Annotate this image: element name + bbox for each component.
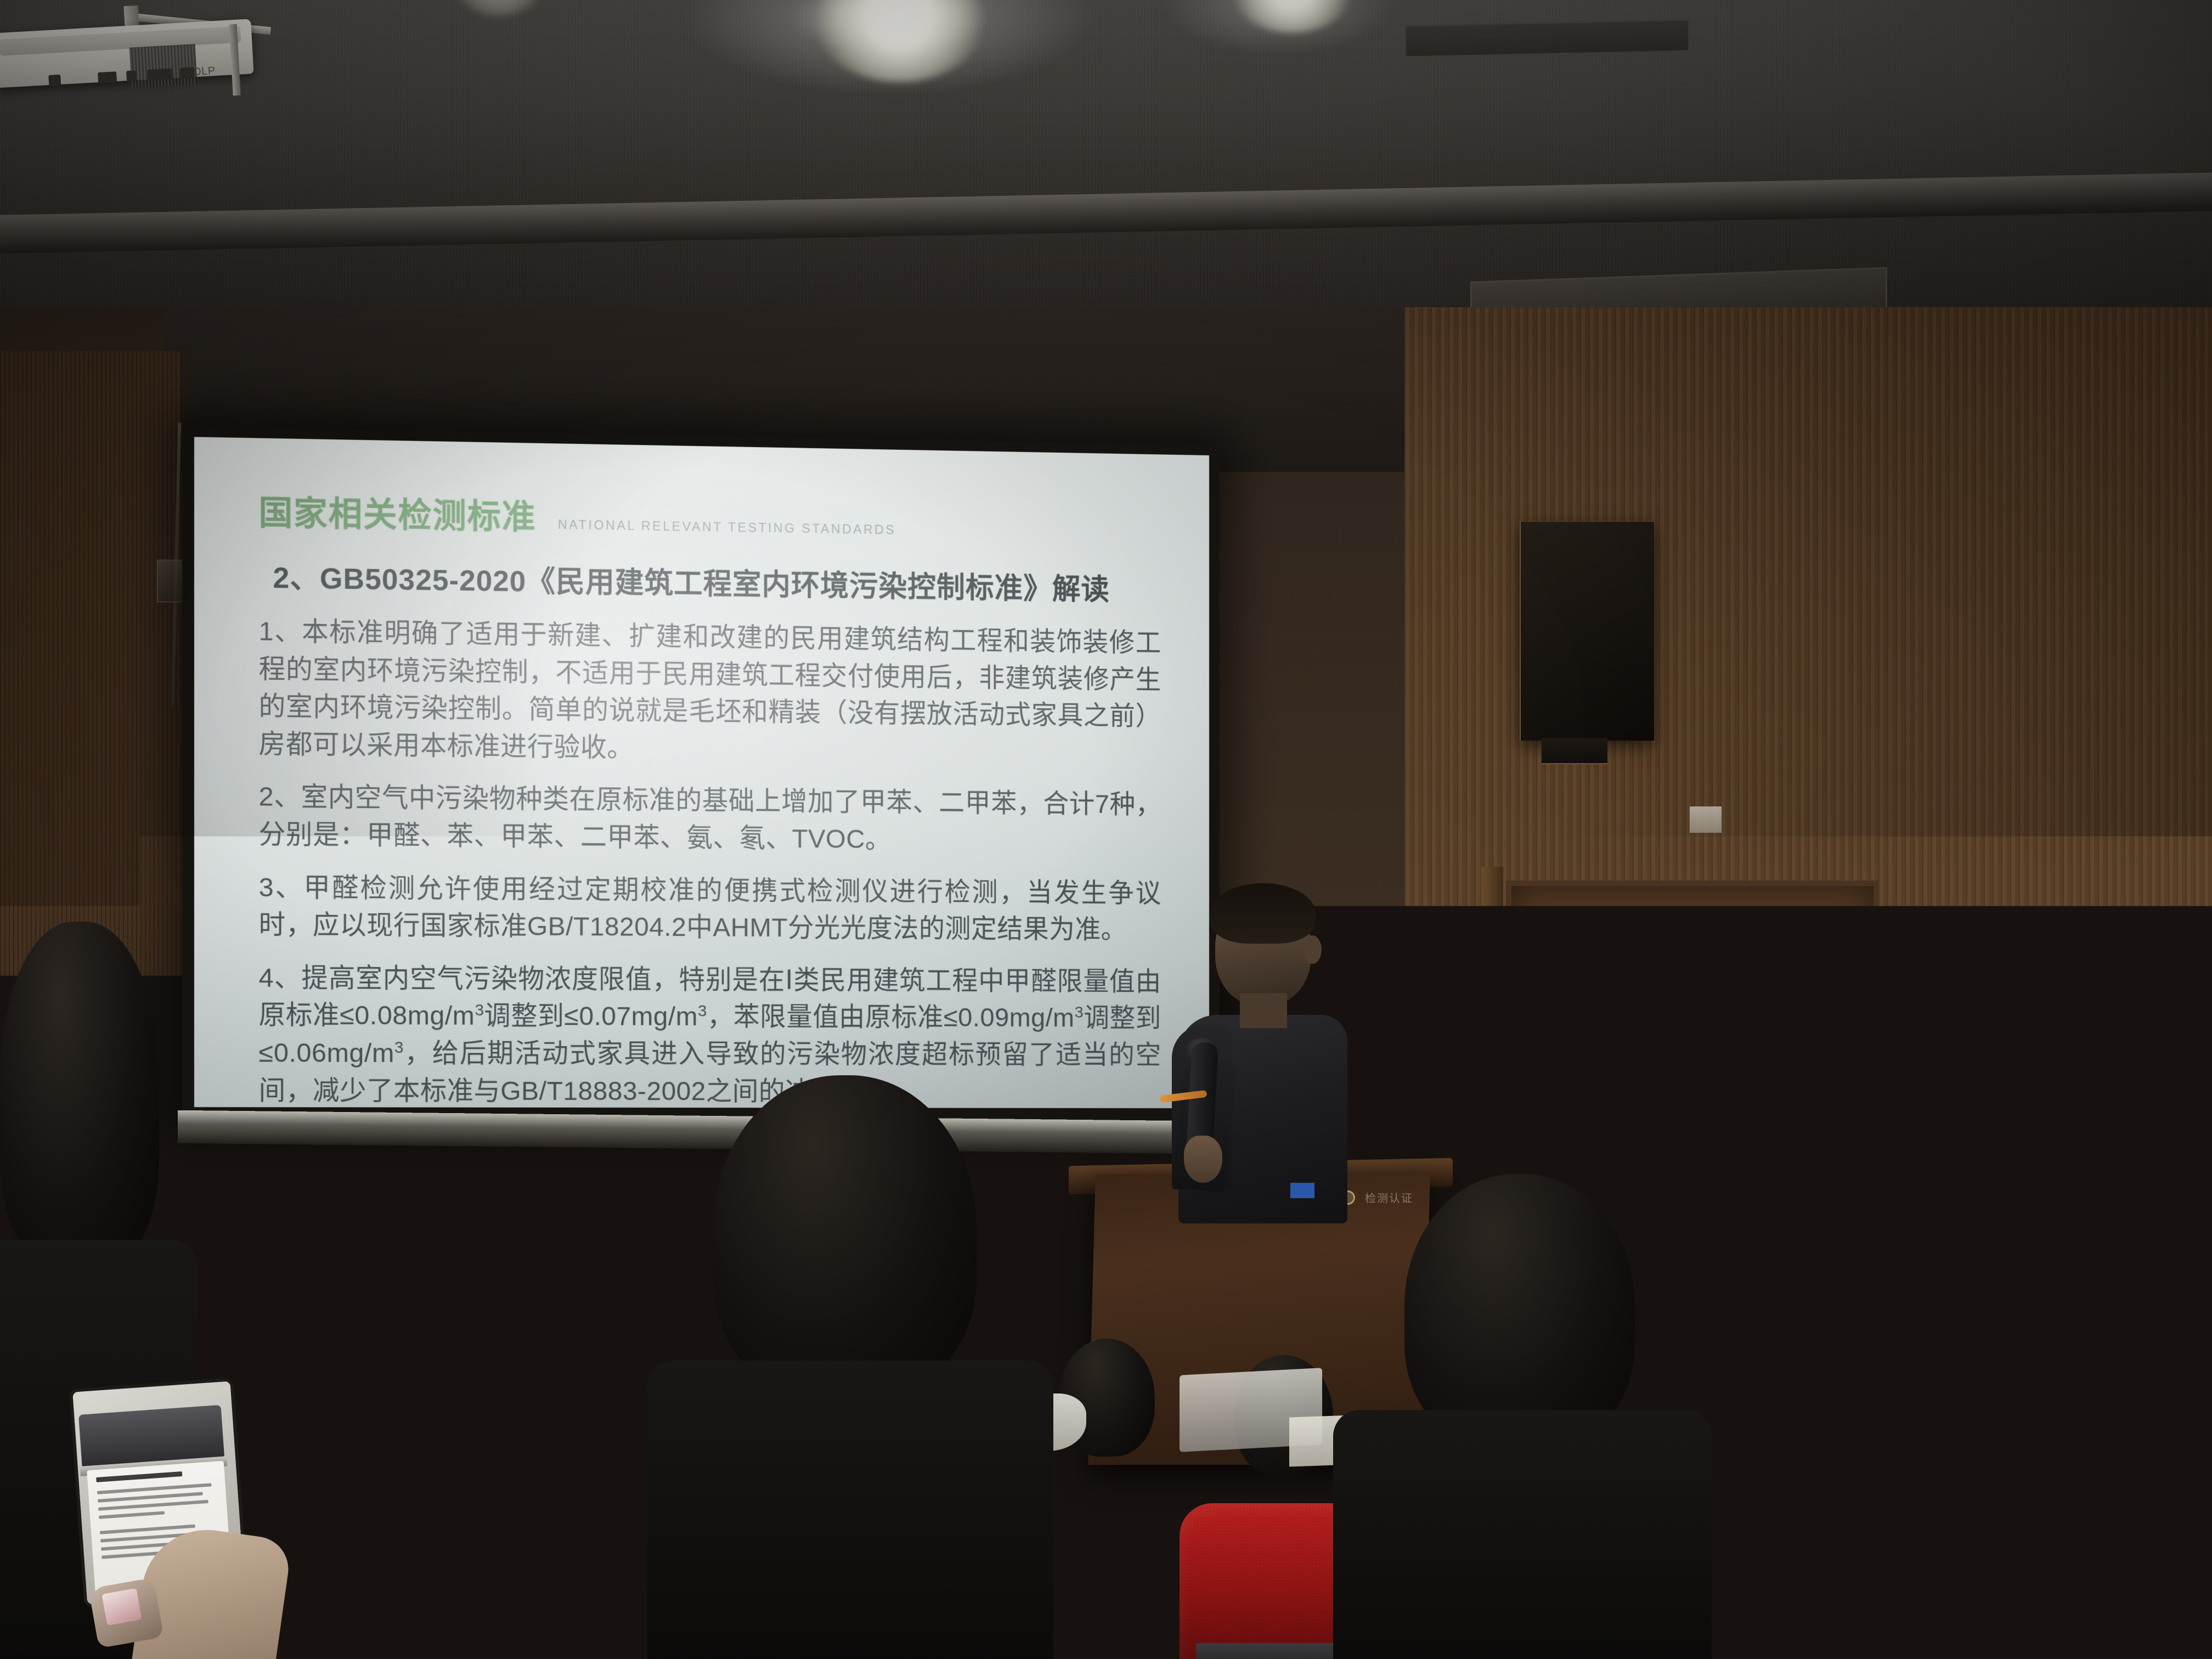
foreground-audience-head [1931,1278,2162,1536]
slide-paragraph-1: 1、本标准明确了适用于新建、扩建和改建的民用建筑结构工程和装饰装修工程的室内环境… [259,613,1161,772]
projector-port [126,70,137,82]
foreground-audience-head [1404,1174,1635,1448]
slide-header-chinese: 国家相关检测标准 [259,485,537,539]
auditorium-presentation-photo: DLP 国家相关检测标准 NATIONAL RELEVANT TESTING S… [0,0,2212,1659]
slide-title: 2、GB50325-2020《民用建筑工程室内环境污染控制标准》解读 [273,554,1161,610]
eyeglasses-icon [307,1372,379,1400]
p4-sup-1: 3 [475,1001,484,1019]
p4-sup-4: 3 [394,1038,404,1057]
projector-vent-icon [129,44,198,88]
loudspeaker-bracket [1542,738,1607,764]
slide-paragraph-4: 4、提高室内空气污染物浓度限值，特别是在Ⅰ类民用建筑工程中甲醛限量值由原标准≤0… [259,959,1161,1108]
p4-sup-3: 3 [1075,1003,1084,1021]
projection-screen: 国家相关检测标准 NATIONAL RELEVANT TESTING STAND… [182,427,1220,1120]
projection-screen-surface: 国家相关检测标准 NATIONAL RELEVANT TESTING STAND… [194,437,1209,1108]
projector-port-vga [147,68,173,81]
p4-segment-c: ，苯限量值由原标准≤0.09mg/m [707,1002,1075,1032]
wall-junction-box [157,560,185,602]
projector-top-shell [0,26,241,56]
presenter-hair [1210,883,1316,944]
wall-outlet-plate [1690,806,1722,833]
document-text-line [100,1525,195,1534]
audience-head [362,1306,466,1432]
wall-mounted-loudspeaker [1520,521,1654,741]
foreground-audience-head [0,922,159,1262]
projector-port [98,71,117,83]
document-text-line [99,1511,165,1519]
desk-name-card [384,1503,620,1581]
seat-base [230,1635,625,1659]
foreground-audience-body [647,1361,1053,1659]
slide-header: 国家相关检测标准 NATIONAL RELEVANT TESTING STAND… [259,485,1161,549]
projector-brand-label: DLP [193,65,216,78]
foreground-audience-body [1333,1410,1712,1659]
ceiling-projector: DLP [0,2,282,100]
foreground-audience-head [713,1075,977,1393]
presenter-at-podium [1163,878,1355,1218]
slide-paragraph-2: 2、室内空气中污染物种类在原标准的基础上增加了甲苯、二甲苯，合计7种，分别是：甲… [259,778,1161,860]
projector-port-hdmi [180,67,195,78]
presenter-badge [1290,1183,1314,1198]
slide-header-english: NATIONAL RELEVANT TESTING STANDARDS [558,517,896,544]
presenter-neck [1240,993,1287,1028]
slide-paragraph-3: 3、甲醛检测允许使用经过定期校准的便携式检测仪进行检测，当发生争议时，应以现行国… [259,869,1161,949]
smartphone-screen[interactable] [101,1588,142,1626]
podium-logo-text: 检测认证 [1365,1189,1413,1205]
document-heading-line [96,1471,182,1482]
presenter-ear [1303,935,1322,964]
foreground-audience-body [1854,1503,2212,1659]
ceiling-vent [1404,19,1690,58]
projector-port [48,75,61,86]
p4-segment-b: 调整到≤0.07mg/m [484,1001,698,1031]
projector-body: DLP [0,19,254,88]
document-text-line [98,1500,208,1511]
p4-sup-2: 3 [698,1002,707,1020]
presentation-slide: 国家相关检测标准 NATIONAL RELEVANT TESTING STAND… [194,437,1209,1108]
presenter-hand [1184,1136,1222,1183]
